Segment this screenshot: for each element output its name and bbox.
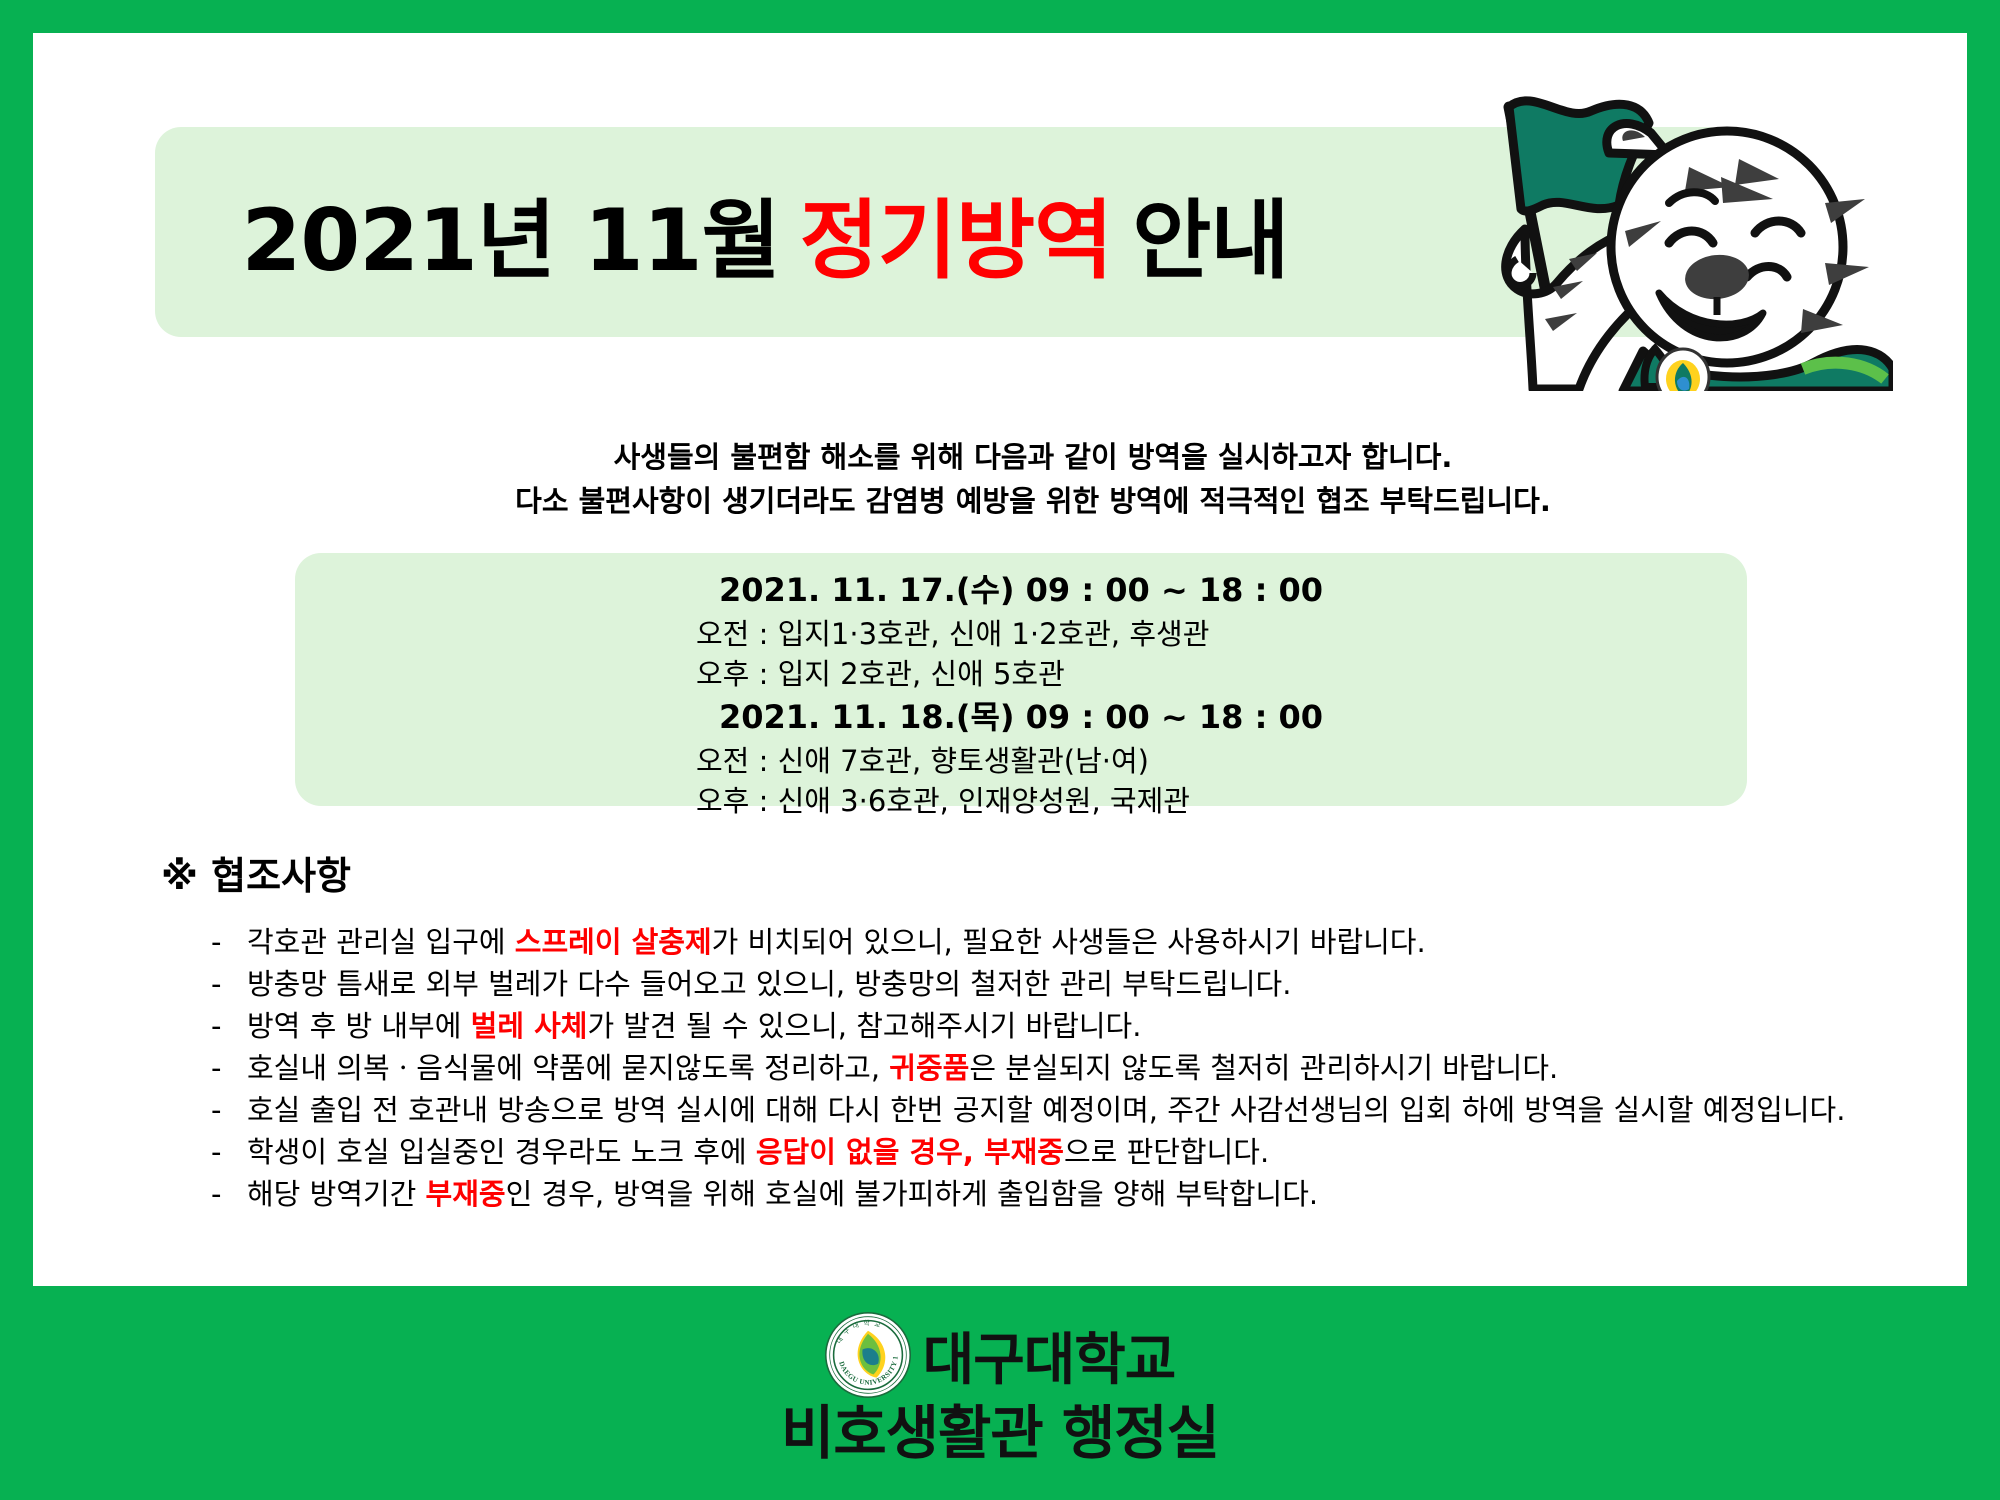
cooperation-item: -각호관 관리실 입구에 스프레이 살충제가 비치되어 있으니, 필요한 사생들… <box>211 923 1971 961</box>
cooperation-heading: ※ 협조사항 <box>161 845 351 900</box>
cooperation-item-text: 호실내 의복ㆍ음식물에 약품에 묻지않도록 정리하고, 귀중품은 분실되지 않도… <box>247 1049 1971 1087</box>
title-banner: 2021년 11월 정기방역 안내 <box>155 127 1735 337</box>
mascot-emblem-badge <box>1657 349 1709 391</box>
cooperation-plain: 각호관 관리실 입구에 <box>247 925 515 959</box>
cooperation-item-dash: - <box>211 1133 247 1171</box>
footer-university-name: 대구대학교 <box>923 1315 1176 1396</box>
cooperation-emphasis: 부재중 <box>426 1177 506 1211</box>
cooperation-item: -호실 출입 전 호관내 방송으로 방역 실시에 대해 다시 한번 공지할 예정… <box>211 1091 1971 1129</box>
page-title-suffix: 안내 <box>1132 170 1288 295</box>
cooperation-item-dash: - <box>211 1007 247 1045</box>
poster-white-page: 2021년 11월 정기방역 안내 <box>33 33 1967 1286</box>
cooperation-plain: 가 발견 될 수 있으니, 참고해주시기 바랍니다. <box>587 1009 1141 1043</box>
cooperation-plain: 호실 출입 전 호관내 방송으로 방역 실시에 대해 다시 한번 공지할 예정이… <box>247 1093 1845 1127</box>
cooperation-item: -해당 방역기간 부재중인 경우, 방역을 위해 호실에 불가피하게 출입함을 … <box>211 1175 1971 1213</box>
schedule-list: 2021. 11. 17.(수) 09 : 00 ~ 18 : 00 오전 : … <box>295 567 1747 821</box>
cooperation-plain: 방충망 틈새로 외부 벌레가 다수 들어오고 있으니, 방충망의 철저한 관리 … <box>247 967 1291 1001</box>
cooperation-plain: 방역 후 방 내부에 <box>247 1009 471 1043</box>
cooperation-emphasis: 귀중품 <box>889 1051 969 1085</box>
cooperation-item-text: 해당 방역기간 부재중인 경우, 방역을 위해 호실에 불가피하게 출입함을 양… <box>247 1175 1971 1213</box>
cooperation-item: -방역 후 방 내부에 벌레 사체가 발견 될 수 있으니, 참고해주시기 바랍… <box>211 1007 1971 1045</box>
intro-line-1: 사생들의 불편함 해소를 위해 다음과 같이 방역을 실시하고자 합니다. <box>33 435 2000 479</box>
cooperation-emphasis: 응답이 없을 경우, 부재중 <box>756 1135 1064 1169</box>
cooperation-item-text: 방충망 틈새로 외부 벌레가 다수 들어오고 있으니, 방충망의 철저한 관리 … <box>247 965 1971 1003</box>
cooperation-plain: 가 비치되어 있으니, 필요한 사생들은 사용하시기 바랍니다. <box>712 925 1426 959</box>
page-title: 2021년 11월 정기방역 안내 <box>155 127 1375 337</box>
cooperation-plain: 은 분실되지 않도록 철저히 관리하시기 바랍니다. <box>969 1051 1558 1085</box>
cooperation-plain: 으로 판단합니다. <box>1064 1135 1269 1169</box>
schedule-date: 2021. 11. 18.(목) 09 : 00 ~ 18 : 00 <box>295 694 1747 741</box>
footer-office-name: 비호생활관 행정실 <box>0 1386 2000 1470</box>
cooperation-item: -학생이 호실 입실중인 경우라도 노크 후에 응답이 없을 경우, 부재중으로… <box>211 1133 1971 1171</box>
cooperation-item-dash: - <box>211 923 247 961</box>
cooperation-item-text: 호실 출입 전 호관내 방송으로 방역 실시에 대해 다시 한번 공지할 예정이… <box>247 1091 1971 1129</box>
cooperation-item-dash: - <box>211 1049 247 1087</box>
intro-paragraph: 사생들의 불편함 해소를 위해 다음과 같이 방역을 실시하고자 합니다. 다소… <box>33 435 2000 523</box>
cooperation-item-text: 학생이 호실 입실중인 경우라도 노크 후에 응답이 없을 경우, 부재중으로 … <box>247 1133 1971 1171</box>
cooperation-list: -각호관 관리실 입구에 스프레이 살충제가 비치되어 있으니, 필요한 사생들… <box>211 923 1971 1217</box>
cooperation-item: -방충망 틈새로 외부 벌레가 다수 들어오고 있으니, 방충망의 철저한 관리… <box>211 965 1971 1003</box>
footer-bar: 대 구 대 학 교 DAEGU UNIVERSITY 1956 대구대학교 비호… <box>0 1286 2000 1500</box>
intro-line-2: 다소 불편사항이 생기더라도 감염병 예방을 위한 방역에 적극적인 협조 부탁… <box>33 479 2000 523</box>
cooperation-plain: 해당 방역기간 <box>247 1177 426 1211</box>
poster-root: 2021년 11월 정기방역 안내 <box>0 0 2000 1500</box>
cooperation-emphasis: 스프레이 살충제 <box>515 925 712 959</box>
schedule-afternoon: 오후 : 입지 2호관, 신애 5호관 <box>686 654 1356 694</box>
schedule-morning: 오전 : 신애 7호관, 향토생활관(남·여) <box>686 741 1356 781</box>
schedule-morning: 오전 : 입지1·3호관, 신애 1·2호관, 후생관 <box>686 614 1356 654</box>
cooperation-plain: 학생이 호실 입실중인 경우라도 노크 후에 <box>247 1135 756 1169</box>
cooperation-plain: 호실내 의복ㆍ음식물에 약품에 묻지않도록 정리하고, <box>247 1051 889 1085</box>
page-title-prefix: 2021년 11월 <box>242 170 780 295</box>
cooperation-item-dash: - <box>211 1175 247 1213</box>
schedule-afternoon: 오후 : 신애 3·6호관, 인재양성원, 국제관 <box>686 781 1356 821</box>
cooperation-plain: 인 경우, 방역을 위해 호실에 불가피하게 출입함을 양해 부탁합니다. <box>506 1177 1319 1211</box>
schedule-box: 2021. 11. 17.(수) 09 : 00 ~ 18 : 00 오전 : … <box>295 553 1747 806</box>
page-title-accent: 정기방역 <box>800 170 1112 295</box>
cooperation-item-dash: - <box>211 965 247 1003</box>
cooperation-item-dash: - <box>211 1091 247 1129</box>
schedule-date: 2021. 11. 17.(수) 09 : 00 ~ 18 : 00 <box>295 567 1747 614</box>
cooperation-item-text: 각호관 관리실 입구에 스프레이 살충제가 비치되어 있으니, 필요한 사생들은… <box>247 923 1971 961</box>
cooperation-emphasis: 벌레 사체 <box>471 1009 588 1043</box>
cooperation-item-text: 방역 후 방 내부에 벌레 사체가 발견 될 수 있으니, 참고해주시기 바랍니… <box>247 1007 1971 1045</box>
cooperation-item: -호실내 의복ㆍ음식물에 약품에 묻지않도록 정리하고, 귀중품은 분실되지 않… <box>211 1049 1971 1087</box>
